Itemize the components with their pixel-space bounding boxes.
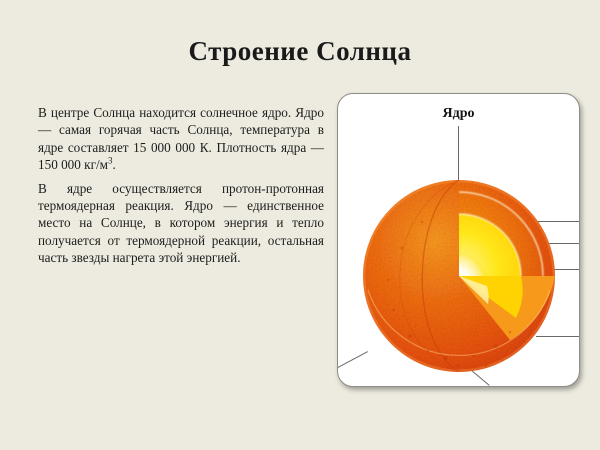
body-text-column: В центре Солнца находится солнечное ядро… <box>38 104 324 267</box>
sun-cutaway-illustration <box>350 170 568 378</box>
paragraph-1: В центре Солнца находится солнечное ядро… <box>38 104 324 174</box>
diagram-label-core: Ядро <box>338 106 579 122</box>
diagram-stage: Ядро <box>338 94 579 386</box>
paragraph-1-text: В центре Солнца находится солнечное ядро… <box>38 105 324 172</box>
diagram-panel: Ядро <box>337 93 580 387</box>
page-title: Строение Солнца <box>0 36 600 67</box>
paragraph-2: В ядре осуществляется протон-протонная т… <box>38 180 324 267</box>
paragraph-1-tail: . <box>112 157 115 172</box>
